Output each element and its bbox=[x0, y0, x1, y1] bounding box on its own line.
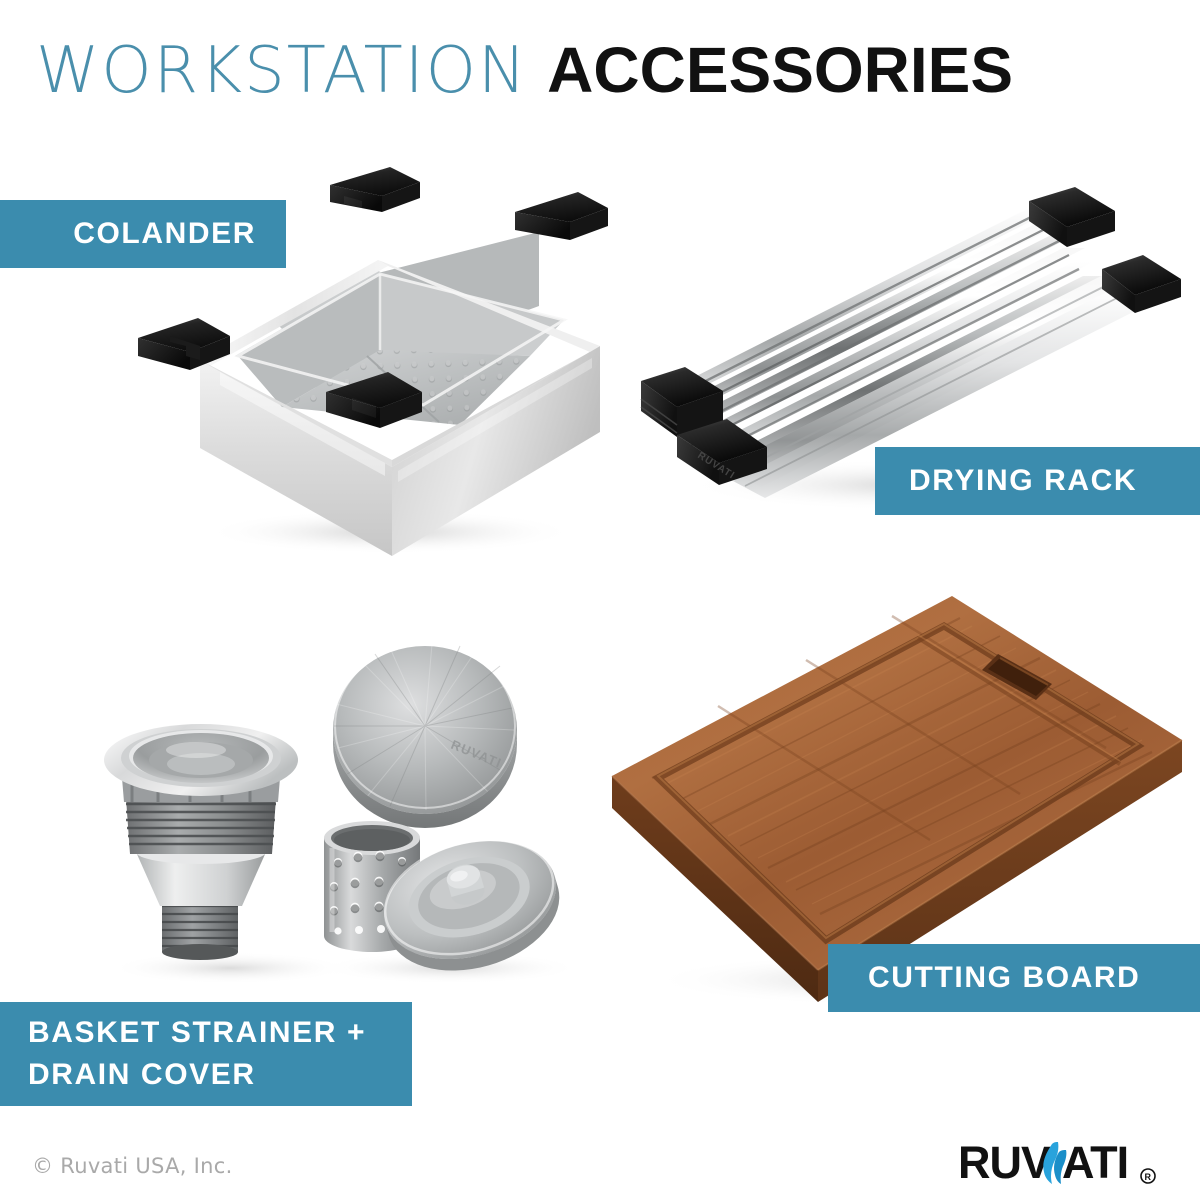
drain-body bbox=[104, 724, 298, 960]
colander-corner-rest bbox=[330, 167, 420, 212]
page-title-bold: ACCESSORIES bbox=[547, 34, 1013, 106]
product-image-basket-strainer: RUVATI bbox=[70, 600, 595, 1000]
label-cutting-board: CUTTING BOARD bbox=[828, 944, 1200, 1012]
label-basket-strainer: BASKET STRAINER + DRAIN COVER bbox=[0, 1002, 412, 1106]
ruvati-wordmark-right: ATI bbox=[1062, 1138, 1128, 1188]
page-title-light: WORKSTATION bbox=[36, 34, 528, 108]
label-cutting-board-text: CUTTING BOARD bbox=[868, 961, 1140, 995]
label-colander-text: COLANDER bbox=[73, 217, 256, 251]
label-drying-rack-text: DRYING RACK bbox=[909, 464, 1137, 498]
svg-text:R: R bbox=[1145, 1172, 1152, 1182]
label-basket-strainer-line1: BASKET STRAINER + bbox=[28, 1012, 366, 1054]
label-colander: COLANDER bbox=[0, 200, 286, 268]
ruvati-logo: RUV ATI R bbox=[958, 1138, 1174, 1190]
copyright-text: © Ruvati USA, Inc. bbox=[32, 1154, 233, 1178]
label-drying-rack: DRYING RACK bbox=[875, 447, 1200, 515]
drain-disc-cover: RUVATI bbox=[333, 644, 517, 828]
label-basket-strainer-line2: DRAIN COVER bbox=[28, 1054, 256, 1096]
page-title: WORKSTATION ACCESSORIES bbox=[36, 34, 1013, 107]
drying-rack-end-cap bbox=[1029, 187, 1115, 247]
header: WORKSTATION ACCESSORIES bbox=[0, 0, 1200, 150]
ruvati-wordmark-left: RUV bbox=[958, 1138, 1051, 1188]
footer: © Ruvati USA, Inc. RUV ATI R bbox=[0, 1120, 1200, 1200]
